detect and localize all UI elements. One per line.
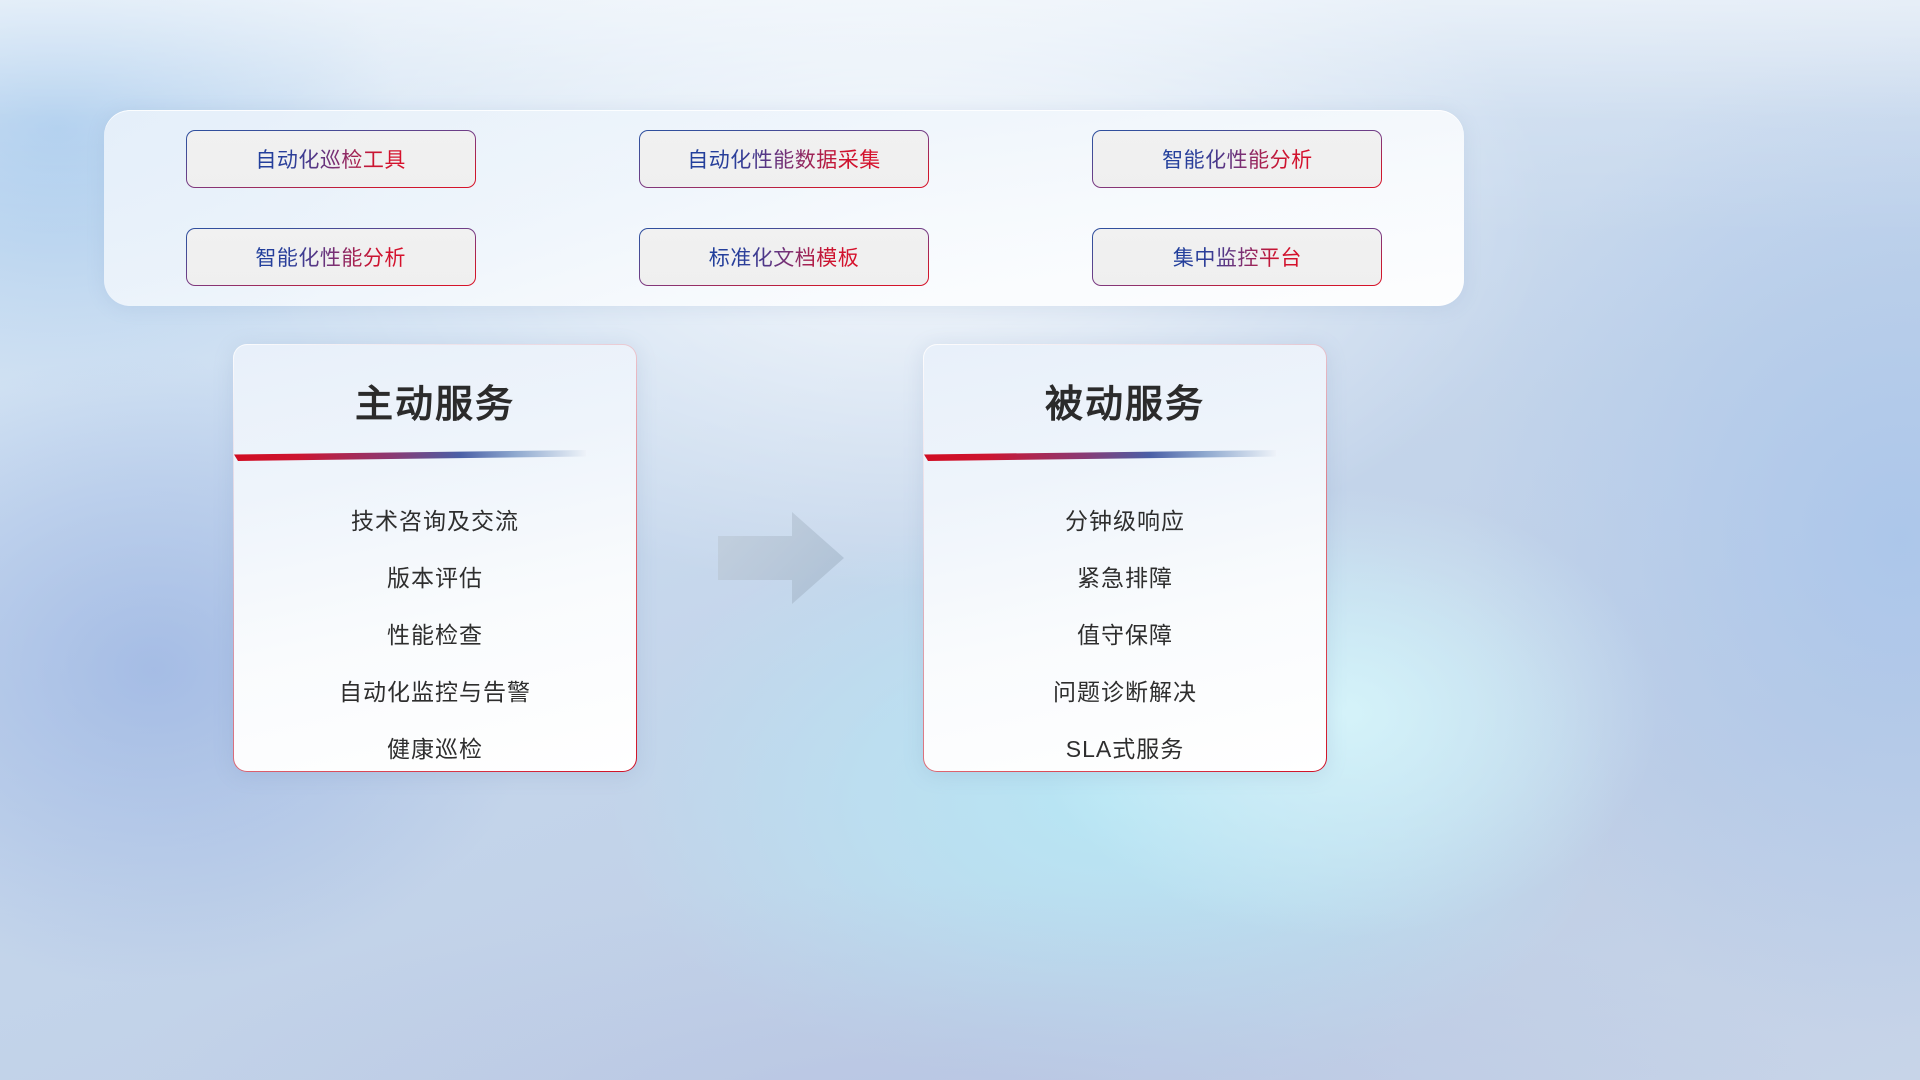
capability-tag[interactable]: 自动化巡检工具: [186, 130, 476, 188]
service-item: 分钟级响应: [924, 493, 1326, 550]
service-item: 值守保障: [924, 607, 1326, 664]
card-divider-gradient: [924, 450, 1276, 462]
capability-tag-label: 智能化性能分析: [255, 242, 406, 272]
arrow-right-icon: [714, 508, 848, 608]
capability-tag-label: 集中监控平台: [1173, 242, 1302, 272]
capability-panel: 自动化巡检工具 自动化性能数据采集 智能化性能分析 智能化性能分析 标准化文档模…: [104, 110, 1464, 306]
service-item: SLA式服务: [924, 721, 1326, 772]
card-title: 被动服务: [924, 373, 1326, 428]
service-item: 紧急排障: [924, 550, 1326, 607]
service-item-list: 分钟级响应 紧急排障 值守保障 问题诊断解决 SLA式服务: [924, 493, 1326, 772]
capability-tag[interactable]: 自动化性能数据采集: [639, 130, 929, 188]
service-card-reactive: 被动服务 分钟级响应 紧急排障 值守保障 问题诊断解决 SLA式服务: [923, 344, 1327, 772]
capability-tag[interactable]: 智能化性能分析: [1092, 130, 1382, 188]
service-item: 性能检查: [234, 607, 636, 664]
slide-canvas: 自动化巡检工具 自动化性能数据采集 智能化性能分析 智能化性能分析 标准化文档模…: [0, 0, 1920, 1080]
capability-tag-label: 标准化文档模板: [709, 242, 860, 272]
service-item-list: 技术咨询及交流 版本评估 性能检查 自动化监控与告警 健康巡检: [234, 493, 636, 772]
capability-tag-label: 智能化性能分析: [1162, 144, 1313, 174]
capability-tag[interactable]: 智能化性能分析: [186, 228, 476, 286]
capability-tag[interactable]: 集中监控平台: [1092, 228, 1382, 286]
service-item: 健康巡检: [234, 721, 636, 772]
service-card-proactive: 主动服务 技术咨询及交流 版本评估 性能检查 自动化监控与告警 健康巡检: [233, 344, 637, 772]
capability-tag-label: 自动化性能数据采集: [687, 144, 881, 174]
service-item: 问题诊断解决: [924, 664, 1326, 721]
capability-tag-label: 自动化巡检工具: [255, 144, 406, 174]
service-item: 自动化监控与告警: [234, 664, 636, 721]
card-title: 主动服务: [234, 373, 636, 428]
capability-tag[interactable]: 标准化文档模板: [639, 228, 929, 286]
card-divider-gradient: [234, 450, 586, 462]
service-item: 版本评估: [234, 550, 636, 607]
service-item: 技术咨询及交流: [234, 493, 636, 550]
